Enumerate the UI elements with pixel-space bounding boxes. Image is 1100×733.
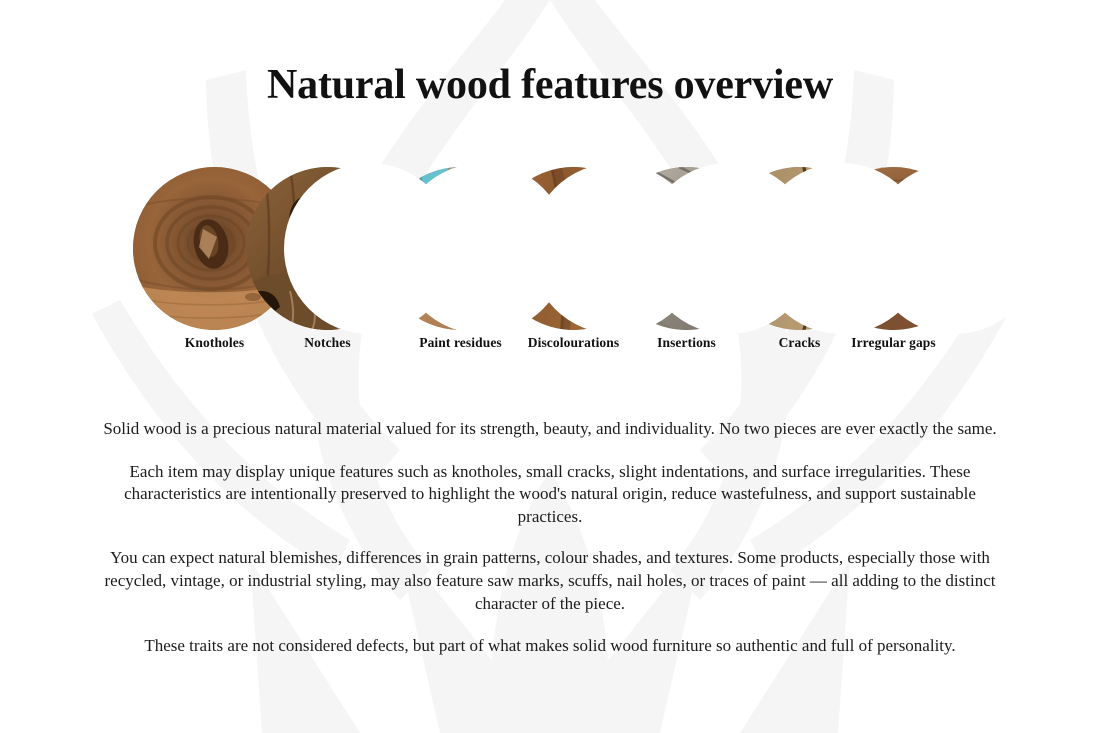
feature-label: Insertions	[657, 335, 716, 351]
feature-label: Notches	[304, 335, 350, 351]
feature-label: Discolourations	[528, 335, 620, 351]
wood-irregular-gap-disc	[812, 167, 975, 330]
feature-label: Paint residues	[419, 335, 502, 351]
body-paragraph-1: Solid wood is a precious natural materia…	[95, 418, 1005, 441]
poster-page: Natural wood features overview	[0, 0, 1100, 733]
feature-label: Irregular gaps	[851, 335, 936, 351]
body-paragraph-4: These traits are not considered defects,…	[95, 635, 1005, 658]
body-copy: Solid wood is a precious natural materia…	[95, 418, 1005, 658]
feature-item-irregular-gaps[interactable]: Irregular gaps	[812, 167, 975, 330]
feature-label: Cracks	[779, 335, 821, 351]
feature-label: Knotholes	[185, 335, 244, 351]
page-title: Natural wood features overview	[0, 62, 1100, 108]
body-paragraph-3: You can expect natural blemishes, differ…	[95, 547, 1005, 615]
feature-strip: Knotholes	[133, 167, 975, 330]
body-paragraph-2: Each item may display unique features su…	[95, 461, 1005, 529]
